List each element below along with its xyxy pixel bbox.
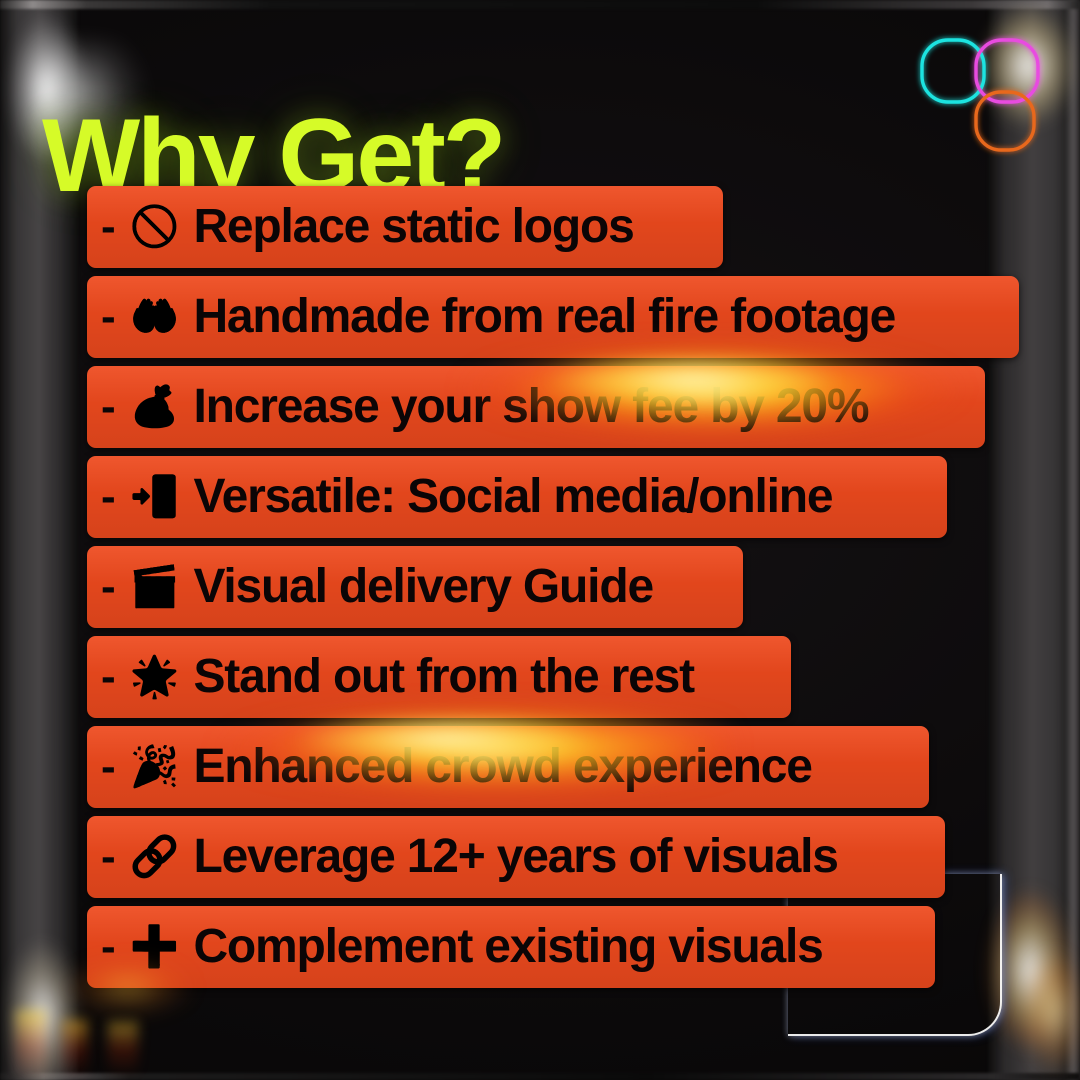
list-item[interactable]: - 🎉 Enhanced crowd experience [87, 726, 929, 808]
bullet-dash: - [101, 295, 116, 339]
top-light-strip [0, 0, 1080, 9]
bullet-dash: - [101, 385, 116, 429]
bullet-dash: - [101, 925, 116, 969]
link-icon: 🔗 [130, 837, 180, 877]
heavy-plus-icon: ➕ [130, 927, 180, 967]
brand-logo[interactable] [914, 30, 1050, 158]
list-item[interactable]: - 🚫 Replace static logos [87, 186, 723, 268]
bullet-dash: - [101, 745, 116, 789]
prohibited-icon: 🚫 [130, 207, 180, 247]
list-item-label: Stand out from the rest [193, 653, 693, 701]
list-item[interactable]: - 🌟 Stand out from the rest [87, 636, 791, 718]
list-item-label: Complement existing visuals [193, 923, 822, 971]
money-bag-icon: 💰 [130, 387, 180, 427]
party-popper-icon: 🎉 [130, 747, 180, 787]
list-item[interactable]: - 📲 Versatile: Social media/online [87, 456, 947, 538]
mobile-phone-arrow-icon: 📲 [130, 477, 180, 517]
open-hands-icon: 🤲 [130, 297, 180, 337]
list-item[interactable]: - 🔗 Leverage 12+ years of visuals [87, 816, 945, 898]
list-item-label: Increase your show fee by 20% [193, 383, 868, 431]
bullet-dash: - [101, 475, 116, 519]
list-item[interactable]: - 💰 Increase your show fee by 20% [87, 366, 985, 448]
list-item-label: Visual delivery Guide [193, 563, 652, 611]
glowing-star-icon: 🌟 [130, 657, 180, 697]
list-item-label: Leverage 12+ years of visuals [193, 833, 837, 881]
list-item-label: Enhanced crowd experience [193, 743, 811, 791]
bullet-dash: - [101, 655, 116, 699]
bullet-dash: - [101, 565, 116, 609]
list-item-label: Versatile: Social media/online [193, 473, 832, 521]
list-item-label: Replace static logos [193, 203, 633, 251]
clapper-board-icon: 🎬 [130, 567, 180, 607]
bottom-light-strip [0, 1073, 1080, 1080]
bullet-dash: - [101, 205, 116, 249]
list-item[interactable]: - 🤲 Handmade from real fire footage [87, 276, 1019, 358]
list-item[interactable]: - ➕ Complement existing visuals [87, 906, 935, 988]
bullet-dash: - [101, 835, 116, 879]
right-edge-highlight [1064, 0, 1080, 1080]
benefits-list: - 🚫 Replace static logos - 🤲 Handmade fr… [87, 186, 1027, 996]
list-item-label: Handmade from real fire footage [193, 293, 895, 341]
poster-canvas: Why Get? - 🚫 Replace static logos [0, 0, 1080, 1080]
list-item[interactable]: - 🎬 Visual delivery Guide [87, 546, 743, 628]
